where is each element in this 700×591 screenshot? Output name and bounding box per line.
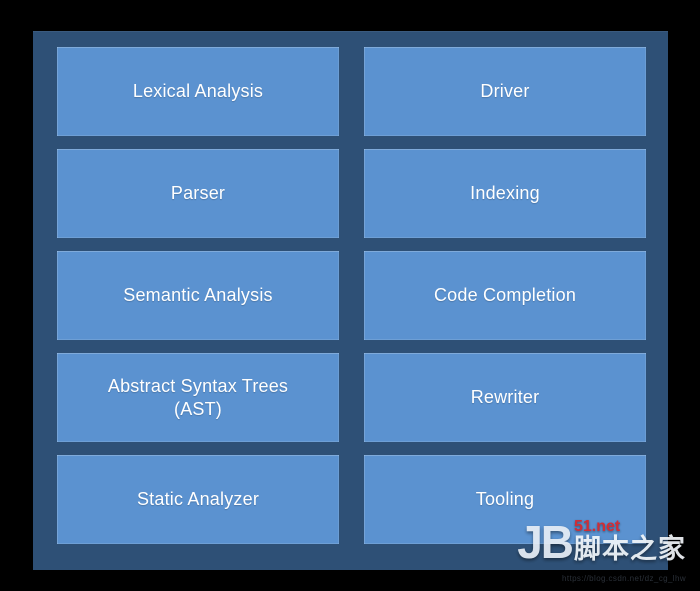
component-label: Lexical Analysis [125, 80, 271, 103]
component-box-parser[interactable]: Parser [57, 149, 339, 238]
component-label: Abstract Syntax Trees (AST) [100, 375, 296, 420]
component-box-semantic-analysis[interactable]: Semantic Analysis [57, 251, 339, 340]
component-box-tooling[interactable]: Tooling [364, 455, 646, 544]
component-box-rewriter[interactable]: Rewriter [364, 353, 646, 442]
component-label: Tooling [468, 488, 542, 511]
component-box-lexical-analysis[interactable]: Lexical Analysis [57, 47, 339, 136]
component-label: Driver [472, 80, 537, 103]
component-label: Indexing [462, 182, 548, 205]
watermark-url: https://blog.csdn.net/dz_cg_lhw [562, 574, 686, 583]
component-label: Rewriter [463, 386, 548, 409]
component-label: Semantic Analysis [115, 284, 280, 307]
diagram-panel: Lexical Analysis Parser Semantic Analysi… [33, 31, 668, 570]
slide-canvas: Lexical Analysis Parser Semantic Analysi… [0, 0, 700, 591]
component-box-driver[interactable]: Driver [364, 47, 646, 136]
component-label: Parser [163, 182, 233, 205]
component-grid: Lexical Analysis Parser Semantic Analysi… [57, 47, 646, 544]
component-label: Static Analyzer [129, 488, 267, 511]
component-box-static-analyzer[interactable]: Static Analyzer [57, 455, 339, 544]
component-box-indexing[interactable]: Indexing [364, 149, 646, 238]
left-column: Lexical Analysis Parser Semantic Analysi… [57, 47, 339, 544]
component-box-abstract-syntax-trees[interactable]: Abstract Syntax Trees (AST) [57, 353, 339, 442]
component-label: Code Completion [426, 284, 584, 307]
component-box-code-completion[interactable]: Code Completion [364, 251, 646, 340]
right-column: Driver Indexing Code Completion Rewriter… [364, 47, 646, 544]
